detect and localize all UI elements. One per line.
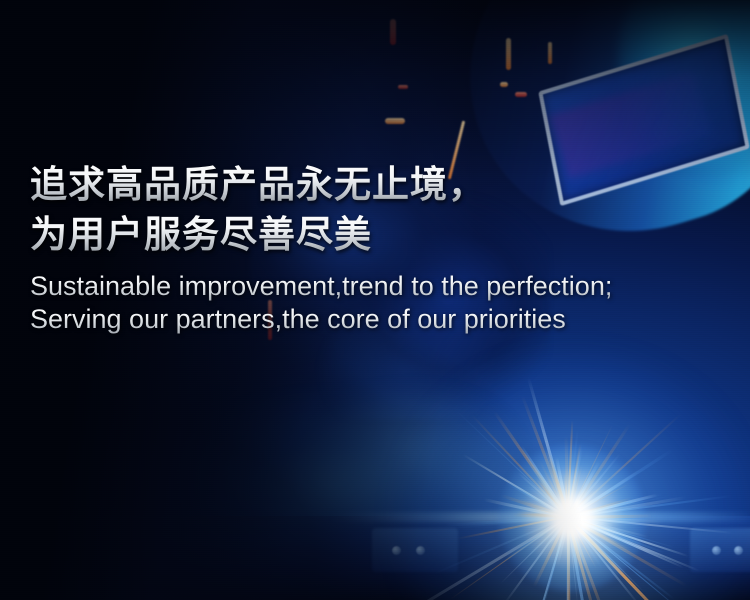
ember-spark [515, 92, 527, 97]
ember-spark [506, 38, 511, 70]
headline-english-line-2: Serving our partners,the core of our pri… [30, 303, 720, 336]
headline-english-line-1: Sustainable improvement,trend to the per… [30, 270, 720, 303]
headline-chinese-line-1: 追求高品质产品永无止境， [30, 160, 720, 210]
welding-arc-spark-burst [498, 444, 646, 592]
headline-english-block: Sustainable improvement,trend to the per… [30, 270, 720, 336]
hero-banner: 追求高品质产品永无止境， 为用户服务尽善尽美 Sustainable impro… [0, 0, 750, 600]
ember-spark [398, 85, 408, 89]
ember-spark [390, 19, 396, 45]
headline-copy-block: 追求高品质产品永无止境， 为用户服务尽善尽美 Sustainable impro… [30, 160, 720, 336]
workbench-rivet [392, 546, 401, 555]
ember-spark [385, 118, 405, 124]
ember-spark [500, 82, 508, 87]
headline-chinese-line-2: 为用户服务尽善尽美 [30, 210, 720, 260]
ember-spark [548, 42, 552, 64]
